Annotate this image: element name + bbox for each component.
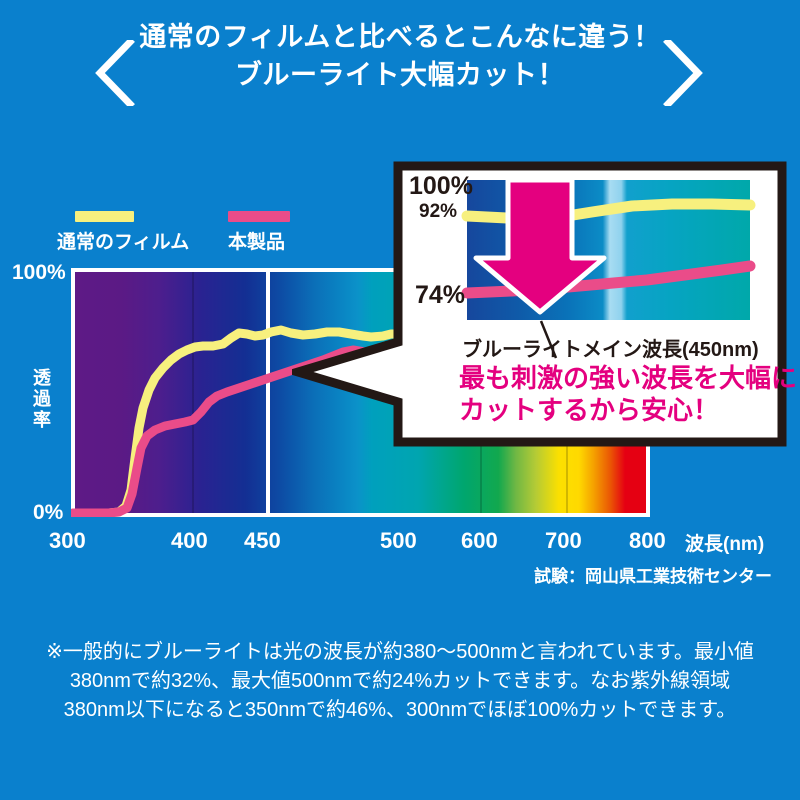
- footnote-line-2: 380nmで約32%、最大値500nmで約24%カットできます。なお紫外線領域: [0, 667, 800, 696]
- x-axis-tick-600: 600: [461, 528, 498, 554]
- x-axis-tick-450: 450: [244, 528, 281, 554]
- inset-label-92: 92%: [419, 201, 457, 223]
- y-axis-tick-0: 0%: [33, 501, 63, 525]
- callout-message-line-2: カットするから安心！: [459, 394, 797, 426]
- callout-message-line-1: 最も刺激の強い波長を大幅に: [459, 362, 797, 394]
- x-axis-tick-800: 800: [629, 528, 666, 554]
- poster-root: 通常のフィルムと比べるとこんなに違う！ ブルーライト大幅カット！ 通常のフィルム…: [0, 0, 800, 800]
- footnote-line-3: 380nm以下になると350nmで約46%、300nmでほぼ100%カットできま…: [0, 696, 800, 725]
- y-axis-title: 透過率: [31, 368, 53, 431]
- callout-message: 最も刺激の強い波長を大幅に カットするから安心！: [459, 362, 797, 426]
- inset-label-74: 74%: [415, 281, 465, 310]
- x-axis-tick-400: 400: [171, 528, 208, 554]
- x-axis-tick-700: 700: [545, 528, 582, 554]
- inset-label-100: 100%: [409, 172, 473, 201]
- footnote-line-1: ※一般的にブルーライトは光の波長が約380〜500nmと言われています。最小値: [0, 638, 800, 667]
- x-axis-tick-300: 300: [49, 528, 86, 554]
- x-axis-tick-500: 500: [380, 528, 417, 554]
- footnote: ※一般的にブルーライトは光の波長が約380〜500nmと言われています。最小値 …: [0, 638, 800, 725]
- test-credit: 試験：岡山県工業技術センター: [534, 562, 772, 587]
- x-axis-unit-label: 波長(nm): [685, 529, 764, 556]
- y-axis-tick-100: 100%: [12, 261, 66, 285]
- callout-caption: ブルーライトメイン波長(450nm): [462, 333, 759, 362]
